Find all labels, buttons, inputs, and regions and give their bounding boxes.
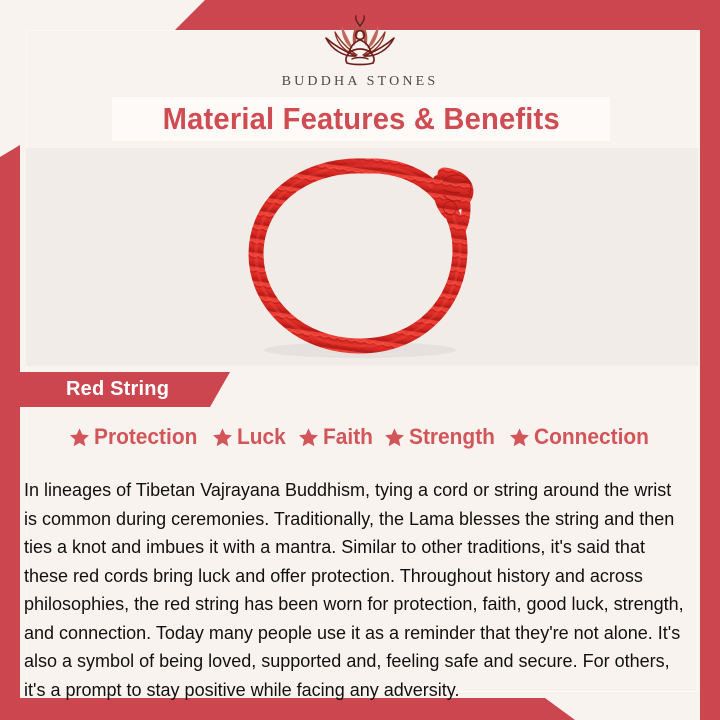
lotus-meditation-icon <box>304 14 416 70</box>
description-paragraph: In lineages of Tibetan Vajrayana Buddhis… <box>24 476 684 704</box>
page-title: Material Features & Benefits <box>162 101 559 137</box>
benefit-label: Strength <box>409 424 495 450</box>
star-icon <box>384 427 405 448</box>
benefit-label: Connection <box>534 424 649 450</box>
brand-name: BUDDHA STONES <box>0 74 720 90</box>
benefit-label: Luck <box>237 424 286 450</box>
benefit-item-strength: Strength <box>384 424 499 450</box>
benefit-label: Protection <box>94 424 197 450</box>
product-image-panel <box>26 148 698 366</box>
right-red-bar <box>700 0 720 720</box>
material-label: Red String <box>66 378 169 401</box>
benefit-item-luck: Luck <box>212 424 288 450</box>
benefit-label: Faith <box>323 424 373 450</box>
benefit-item-connection: Connection <box>509 424 655 450</box>
star-icon <box>298 427 319 448</box>
title-banner: Material Features & Benefits <box>112 97 610 141</box>
star-icon <box>509 427 530 448</box>
benefits-row: Protection Luck Faith Strength Connectio… <box>26 420 698 454</box>
star-icon <box>212 427 233 448</box>
brand-block: BUDDHA STONES <box>0 14 720 90</box>
benefit-item-faith: Faith <box>298 424 376 450</box>
infographic-page: BUDDHA STONES Material Features & Benefi… <box>0 0 720 720</box>
left-red-bar <box>0 145 20 720</box>
star-icon <box>69 427 90 448</box>
material-label-banner: Red String <box>18 372 230 407</box>
red-string-bracelet-image <box>228 150 496 364</box>
benefit-item-protection: Protection <box>69 424 203 450</box>
